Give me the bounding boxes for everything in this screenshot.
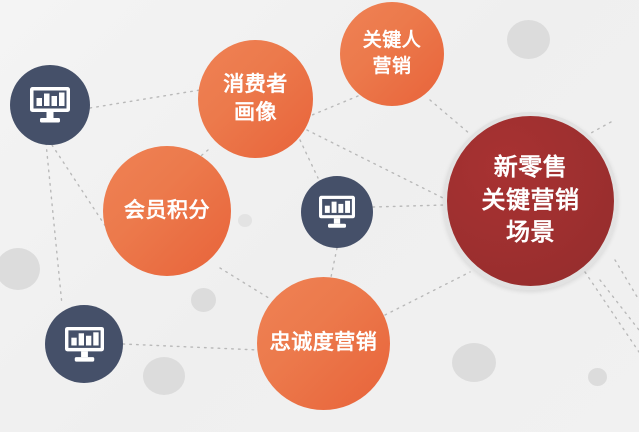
connector-line — [615, 260, 639, 300]
connector-line — [585, 272, 639, 352]
connector-line — [220, 268, 272, 300]
monitor-chart-icon — [28, 85, 72, 125]
node-key-person-marketing[interactable]: 关键人 营销 — [340, 2, 444, 106]
node-main-new-retail[interactable]: 新零售 关键营销 场景 — [443, 112, 618, 290]
connector-line — [385, 272, 470, 315]
node-label-line: 营销 — [363, 54, 422, 80]
node-label-line: 消费者 — [223, 71, 288, 99]
connector-line — [430, 100, 470, 134]
main-node-label-line: 场景 — [482, 217, 580, 249]
main-node-label: 新零售 关键营销 场景 — [482, 152, 580, 249]
node-member-points[interactable]: 会员积分 — [103, 146, 231, 276]
connector-line — [90, 90, 200, 108]
connector-line — [46, 143, 62, 305]
connector-line — [52, 145, 108, 230]
main-node-label-line: 关键营销 — [482, 185, 580, 217]
node-label: 消费者 画像 — [223, 71, 288, 128]
icon-node-bottom-left[interactable] — [45, 305, 123, 383]
icon-node-top-left[interactable] — [10, 65, 90, 145]
node-label: 忠诚度营销 — [270, 329, 378, 357]
node-label: 关键人 营销 — [363, 28, 422, 79]
node-label-line: 忠诚度营销 — [270, 329, 378, 357]
monitor-chart-icon — [63, 325, 106, 364]
monitor-chart-icon — [317, 194, 357, 230]
node-label-line: 关键人 — [363, 28, 422, 54]
node-label-line: 画像 — [223, 99, 288, 127]
connector-line — [373, 205, 445, 207]
diagram-canvas: 消费者 画像 关键人 营销 会员积分 忠诚度营销 — [0, 0, 639, 432]
node-consumer-profile[interactable]: 消费者 画像 — [198, 40, 313, 158]
node-label: 会员积分 — [124, 197, 210, 225]
connector-line — [123, 344, 258, 350]
connector-line — [300, 140, 318, 178]
node-loyalty-marketing[interactable]: 忠诚度营销 — [257, 277, 390, 410]
node-label-line: 会员积分 — [124, 197, 210, 225]
icon-node-middle[interactable] — [301, 176, 373, 248]
main-node-label-line: 新零售 — [482, 152, 580, 184]
